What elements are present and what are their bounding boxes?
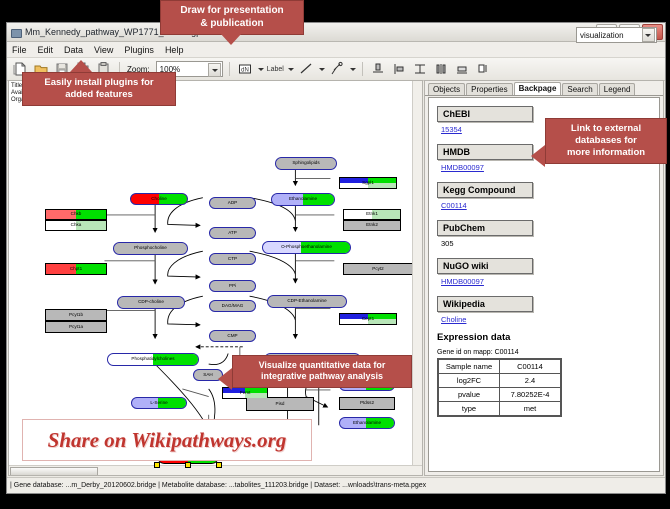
node-ethanolamine-right[interactable]: Ethanolamine xyxy=(339,417,395,429)
node-label: L-Serine xyxy=(150,401,167,406)
callout-link-text: Link to external databases for more info… xyxy=(546,119,666,163)
selection-handle-se[interactable] xyxy=(216,462,222,468)
label-dropdown-icon[interactable] xyxy=(287,62,294,76)
section-header-pubchem: PubChem xyxy=(437,220,533,236)
table-row: log2FC 2.4 xyxy=(438,374,561,388)
node-etnk2[interactable]: Etnk2 xyxy=(343,220,401,231)
title-bar: Mm_Kennedy_pathway_WP1771_45176.gpml – □… xyxy=(7,23,665,42)
align-top-icon[interactable] xyxy=(369,60,387,78)
node-label: Chka xyxy=(71,223,82,228)
node-label: Pemt xyxy=(240,391,251,396)
selection-handle-sw[interactable] xyxy=(154,462,160,468)
anchor-icon[interactable] xyxy=(328,60,346,78)
node-label: Phosphocholine xyxy=(134,246,167,251)
cell-value: C00114 xyxy=(500,359,562,374)
tab-backpage[interactable]: Backpage xyxy=(514,82,562,95)
callout-plugins-arrow-icon xyxy=(70,60,92,72)
visualization-combobox[interactable]: visualization xyxy=(576,27,657,43)
menu-view[interactable]: View xyxy=(93,45,114,55)
node-label: Chkb xyxy=(71,212,82,217)
node-label: Ethanolamine xyxy=(289,197,317,202)
callout-draw: Draw for presentation & publication xyxy=(160,0,304,35)
node-label: PPi xyxy=(229,284,236,289)
node-pisd[interactable]: Pisd xyxy=(246,397,314,411)
node-label: Cept1 xyxy=(362,317,374,322)
toolbar-separator-2 xyxy=(229,62,230,76)
link-wikipedia[interactable]: Choline xyxy=(441,315,651,324)
table-row: pvalue 7.80252E-4 xyxy=(438,388,561,402)
node-o-phosphoethanolamine[interactable]: O-Phosphoethanolamine xyxy=(262,241,351,254)
node-pcyt1a[interactable]: Pcyt1a xyxy=(45,321,107,333)
node-l-serine-left[interactable]: L-Serine xyxy=(131,397,187,409)
cell-value: 2.4 xyxy=(500,374,562,388)
callout-visualize: Visualize quantitative data for integrat… xyxy=(232,355,412,388)
link-hmdb[interactable]: HMDB00097 xyxy=(441,163,651,172)
table-row: type met xyxy=(438,402,561,417)
node-ppi[interactable]: PPi xyxy=(209,280,256,292)
node-etnk1[interactable]: Etnk1 xyxy=(343,209,401,220)
node-label: SAH xyxy=(203,373,212,378)
visualization-value: visualization xyxy=(580,31,624,40)
node-label: Etnk1 xyxy=(366,212,378,217)
order-icon[interactable] xyxy=(474,60,492,78)
node-sgpl1[interactable]: Sgpl1 xyxy=(339,177,397,189)
section-header-kegg: Kegg Compound xyxy=(437,182,533,198)
value-pubchem: 305 xyxy=(441,239,651,248)
node-label: CMP xyxy=(227,334,237,339)
callout-visualize-text: Visualize quantitative data for integrat… xyxy=(233,356,411,387)
datanode-dropdown-icon[interactable] xyxy=(257,62,264,76)
section-header-nugo: NuGO wiki xyxy=(437,258,533,274)
node-pcyt2[interactable]: Pcyt2 xyxy=(343,263,413,275)
gene-id-line: Gene id on mapp: C00114 xyxy=(437,349,651,356)
callout-plugins-text: Easily install plugins for added feature… xyxy=(23,73,175,105)
node-label: Sphingolipids xyxy=(292,161,319,166)
tab-search[interactable]: Search xyxy=(562,83,597,95)
group-icon[interactable] xyxy=(453,60,471,78)
cell-label: log2FC xyxy=(438,374,500,388)
callout-draw-arrow-icon xyxy=(220,33,242,45)
node-pcyt1b[interactable]: Pcyt1b xyxy=(45,309,107,321)
node-cept1[interactable]: Cept1 xyxy=(339,313,397,325)
node-label: ATP xyxy=(228,231,237,236)
callout-draw-text: Draw for presentation & publication xyxy=(161,1,303,34)
node-label: Pcyt2 xyxy=(372,267,384,272)
chevron-down-icon[interactable] xyxy=(642,28,655,42)
cell-label: Sample name xyxy=(438,359,500,374)
callout-visualize-arrow-icon xyxy=(218,368,232,390)
node-label: Chpt1 xyxy=(70,267,82,272)
line-dropdown-icon[interactable] xyxy=(318,62,325,76)
node-choline-top[interactable]: Choline xyxy=(130,193,188,205)
node-label: ADP xyxy=(228,201,237,206)
section-header-chebi: ChEBI xyxy=(437,106,533,122)
section-header-hmdb: HMDB xyxy=(437,144,533,160)
node-ethanolamine-top[interactable]: Ethanolamine xyxy=(271,193,335,206)
node-label: Ptdss2 xyxy=(360,401,374,406)
node-label: CTP xyxy=(228,257,237,262)
table-row: Sample name C00114 xyxy=(438,359,561,374)
cell-value: met xyxy=(500,402,562,417)
node-label: Pcyt1a xyxy=(69,325,83,330)
node-label: CDP-Ethanolamine xyxy=(287,299,326,304)
pathway-edges xyxy=(9,81,422,475)
callout-link: Link to external databases for more info… xyxy=(545,118,667,164)
label-tool-label[interactable]: Label xyxy=(267,66,284,73)
datanode-icon[interactable]: dN xyxy=(236,60,254,78)
node-label: Choline xyxy=(151,197,167,202)
expression-data-heading: Expression data xyxy=(437,332,651,343)
node-adp[interactable]: ADP xyxy=(209,197,256,209)
callout-plugins: Easily install plugins for added feature… xyxy=(22,72,176,106)
share-banner-text: Share on Wikipathways.org xyxy=(48,428,287,452)
node-atp[interactable]: ATP xyxy=(209,227,256,239)
scrollbar-thumb[interactable] xyxy=(10,467,98,476)
link-kegg[interactable]: C00114 xyxy=(441,201,651,210)
node-chka[interactable]: Chka xyxy=(45,220,107,231)
node-sphingolipids[interactable]: Sphingolipids xyxy=(275,157,337,170)
pathway-canvas[interactable]: Title: Availa Organ xyxy=(8,80,423,476)
node-phosphocholine[interactable]: Phosphocholine xyxy=(113,242,188,255)
canvas-vertical-scrollbar[interactable] xyxy=(412,81,422,466)
side-panel-tabs: Objects Properties Backpage Search Legen… xyxy=(425,81,663,96)
node-chpt1[interactable]: Chpt1 xyxy=(45,263,107,275)
status-bar: | Gene database: ...m_Derby_20120602.bri… xyxy=(7,477,665,493)
tab-objects[interactable]: Objects xyxy=(428,83,465,95)
menu-edit[interactable]: Edit xyxy=(37,45,55,55)
node-label: Pcyt1b xyxy=(69,313,83,318)
node-phosphatidylcholines[interactable]: Phosphatidylcholines xyxy=(107,353,199,366)
node-label: CDP-choline xyxy=(138,300,164,305)
cell-label: pvalue xyxy=(438,388,500,402)
callout-link-arrow-icon xyxy=(531,145,545,167)
tab-legend[interactable]: Legend xyxy=(599,83,636,95)
link-nugo[interactable]: HMDB00097 xyxy=(441,277,651,286)
node-cdp-ethanolamine[interactable]: CDP-Ethanolamine xyxy=(267,295,347,308)
node-label: Ethanolamine xyxy=(353,421,381,426)
distribute-icon[interactable] xyxy=(432,60,450,78)
status-text: | Gene database: ...m_Derby_20120602.bri… xyxy=(10,482,426,489)
node-dag-mag[interactable]: DAG/MAG xyxy=(209,300,256,312)
anchor-dropdown-icon[interactable] xyxy=(349,62,356,76)
app-icon xyxy=(10,27,21,38)
align-left-icon[interactable] xyxy=(390,60,408,78)
node-label: Pisd xyxy=(276,402,285,407)
line-icon[interactable] xyxy=(297,60,315,78)
share-banner: Share on Wikipathways.org xyxy=(22,419,312,461)
section-header-wikipedia: Wikipedia xyxy=(437,296,533,312)
menu-help[interactable]: Help xyxy=(164,45,185,55)
node-label: O-Phosphoethanolamine xyxy=(281,245,332,250)
tab-properties[interactable]: Properties xyxy=(466,83,512,95)
svg-text:dN: dN xyxy=(241,68,249,74)
stack-icon[interactable] xyxy=(411,60,429,78)
node-label: Sgpl1 xyxy=(362,181,374,186)
menu-data[interactable]: Data xyxy=(63,45,84,55)
node-chkb[interactable]: Chkb xyxy=(45,209,107,220)
cell-label: type xyxy=(438,402,500,417)
node-cdp-choline[interactable]: CDP-choline xyxy=(117,296,185,309)
node-cmp[interactable]: CMP xyxy=(209,330,256,342)
toolbar-separator-3 xyxy=(362,62,363,76)
expression-table: Sample name C00114 log2FC 2.4 pvalue 7.8… xyxy=(437,358,562,417)
node-label: Etnk2 xyxy=(366,223,378,228)
cell-value: 7.80252E-4 xyxy=(500,388,562,402)
node-ctp[interactable]: CTP xyxy=(209,253,256,265)
node-label: DAG/MAG xyxy=(222,304,244,309)
node-label: Phosphatidylcholines xyxy=(131,357,174,362)
selection-handle-s[interactable] xyxy=(185,462,191,468)
chevron-down-icon[interactable] xyxy=(208,63,221,77)
menu-bar: File Edit Data View Plugins Help xyxy=(7,42,665,58)
menu-file[interactable]: File xyxy=(11,45,28,55)
menu-plugins[interactable]: Plugins xyxy=(123,45,155,55)
node-ptdss2[interactable]: Ptdss2 xyxy=(339,397,395,410)
